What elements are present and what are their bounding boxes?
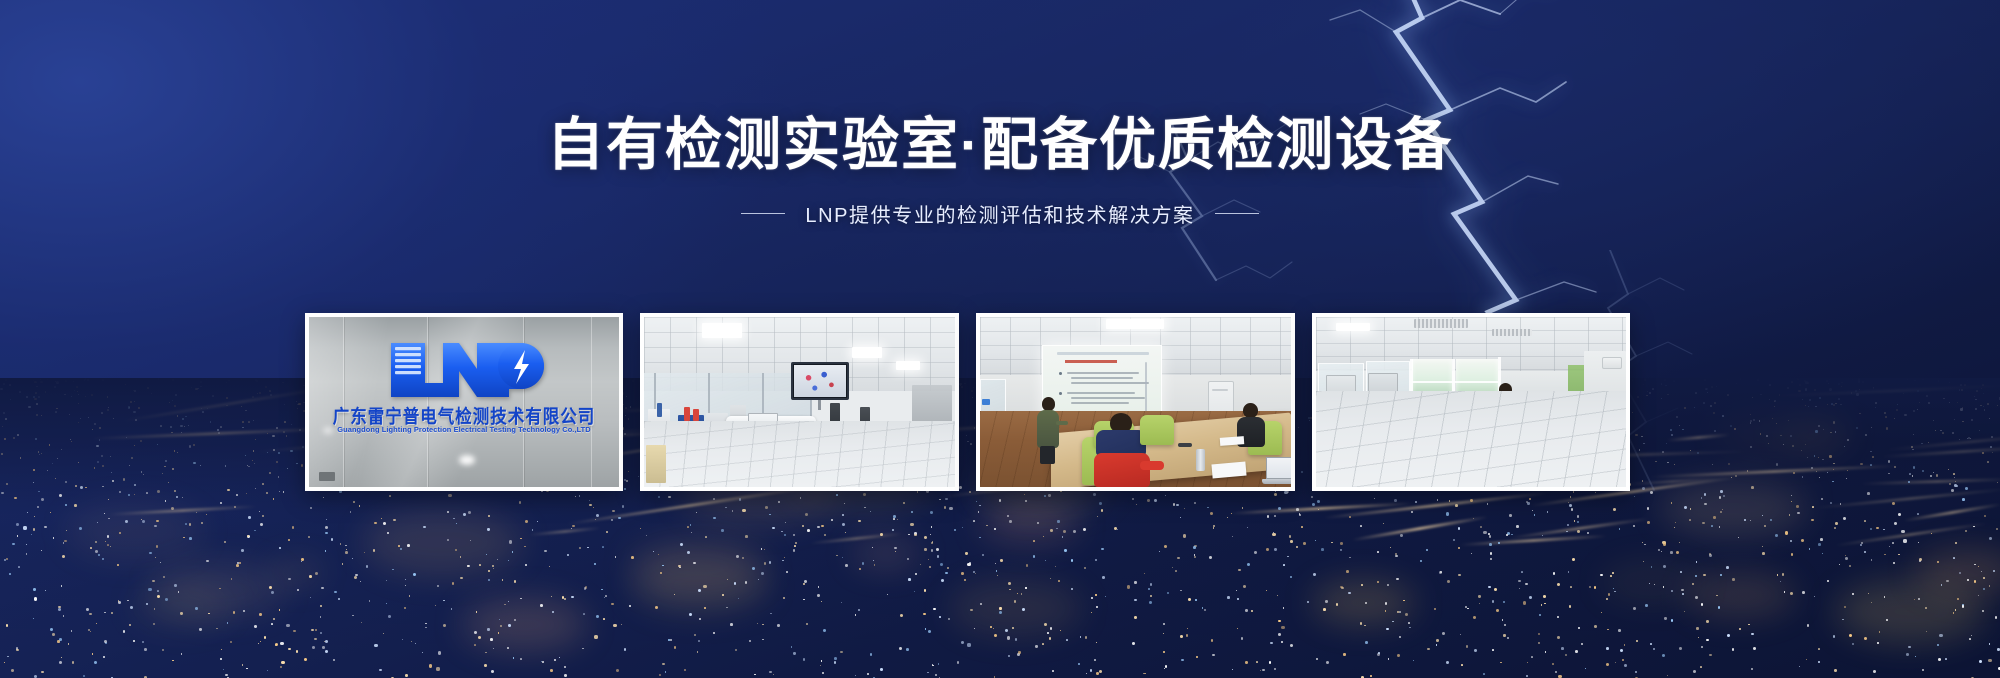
meeting-chair-back xyxy=(1140,415,1174,445)
wall-specular-highlight xyxy=(459,455,475,465)
subtitle-row: LNP提供专业的检测评估和技术解决方案 xyxy=(0,199,2000,228)
photo-company-logo-wall: 广东雷宁普电气检测技术有限公司 Guangdong Lighting Prote… xyxy=(309,317,619,487)
wall-socket xyxy=(319,472,335,481)
floor xyxy=(1316,391,1626,487)
remote-control xyxy=(1178,443,1192,447)
gallery-item-meeting-room[interactable] xyxy=(976,313,1295,491)
equipment-indicator xyxy=(684,407,690,421)
equipment-indicator xyxy=(693,409,699,421)
ceiling-light xyxy=(852,347,882,358)
equipment-column xyxy=(657,403,662,417)
person-presenter xyxy=(1036,397,1062,463)
hero-banner: 自有检测实验室·配备优质检测设备 LNP提供专业的检测评估和技术解决方案 xyxy=(0,0,2000,678)
wall-monitor xyxy=(791,362,849,400)
lnp-logo-icon xyxy=(369,337,559,403)
slide-title xyxy=(1065,360,1117,363)
paper-document xyxy=(1220,436,1244,446)
slide-header xyxy=(1057,352,1149,355)
paper-document xyxy=(1211,462,1246,479)
photo-gallery: 广东雷宁普电气检测技术有限公司 Guangdong Lighting Prote… xyxy=(305,313,1630,491)
page-title: 自有检测实验室·配备优质检测设备 xyxy=(0,112,2000,179)
person-seated-right xyxy=(1234,403,1268,453)
ceiling-light xyxy=(1106,319,1164,329)
air-conditioner xyxy=(1602,357,1622,369)
decorative-rule-right-icon xyxy=(1215,213,1259,214)
company-logo xyxy=(369,337,559,403)
gallery-item-office-area[interactable] xyxy=(1312,313,1630,491)
window-mullion xyxy=(1412,381,1498,383)
gallery-item-company-logo-wall[interactable]: 广东雷宁普电气检测技术有限公司 Guangdong Lighting Prote… xyxy=(305,313,623,491)
wooden-stool xyxy=(646,445,666,483)
ceiling-vent xyxy=(1414,319,1468,328)
monitor-mount xyxy=(818,400,821,410)
ceiling-vent xyxy=(1492,329,1532,336)
gallery-item-testing-laboratory[interactable] xyxy=(640,313,959,491)
page-subtitle: LNP提供专业的检测评估和技术解决方案 xyxy=(805,199,1194,228)
ac-vent xyxy=(1212,389,1228,391)
company-name-en: Guangdong Lighting Protection Electrical… xyxy=(309,425,619,434)
door-sticker xyxy=(982,399,990,405)
floor xyxy=(644,421,955,487)
decorative-rule-left-icon xyxy=(741,213,785,214)
ceiling-light xyxy=(896,361,920,370)
photo-office-area xyxy=(1316,317,1626,487)
thermos-cup xyxy=(1196,449,1205,471)
hero-text-block: 自有检测实验室·配备优质检测设备 LNP提供专业的检测评估和技术解决方案 xyxy=(0,0,2000,228)
photo-testing-laboratory xyxy=(644,317,955,487)
ceiling-light xyxy=(702,323,742,338)
laptop[interactable] xyxy=(1262,457,1291,485)
photo-meeting-room xyxy=(980,317,1291,487)
ceiling-light xyxy=(1336,323,1370,331)
